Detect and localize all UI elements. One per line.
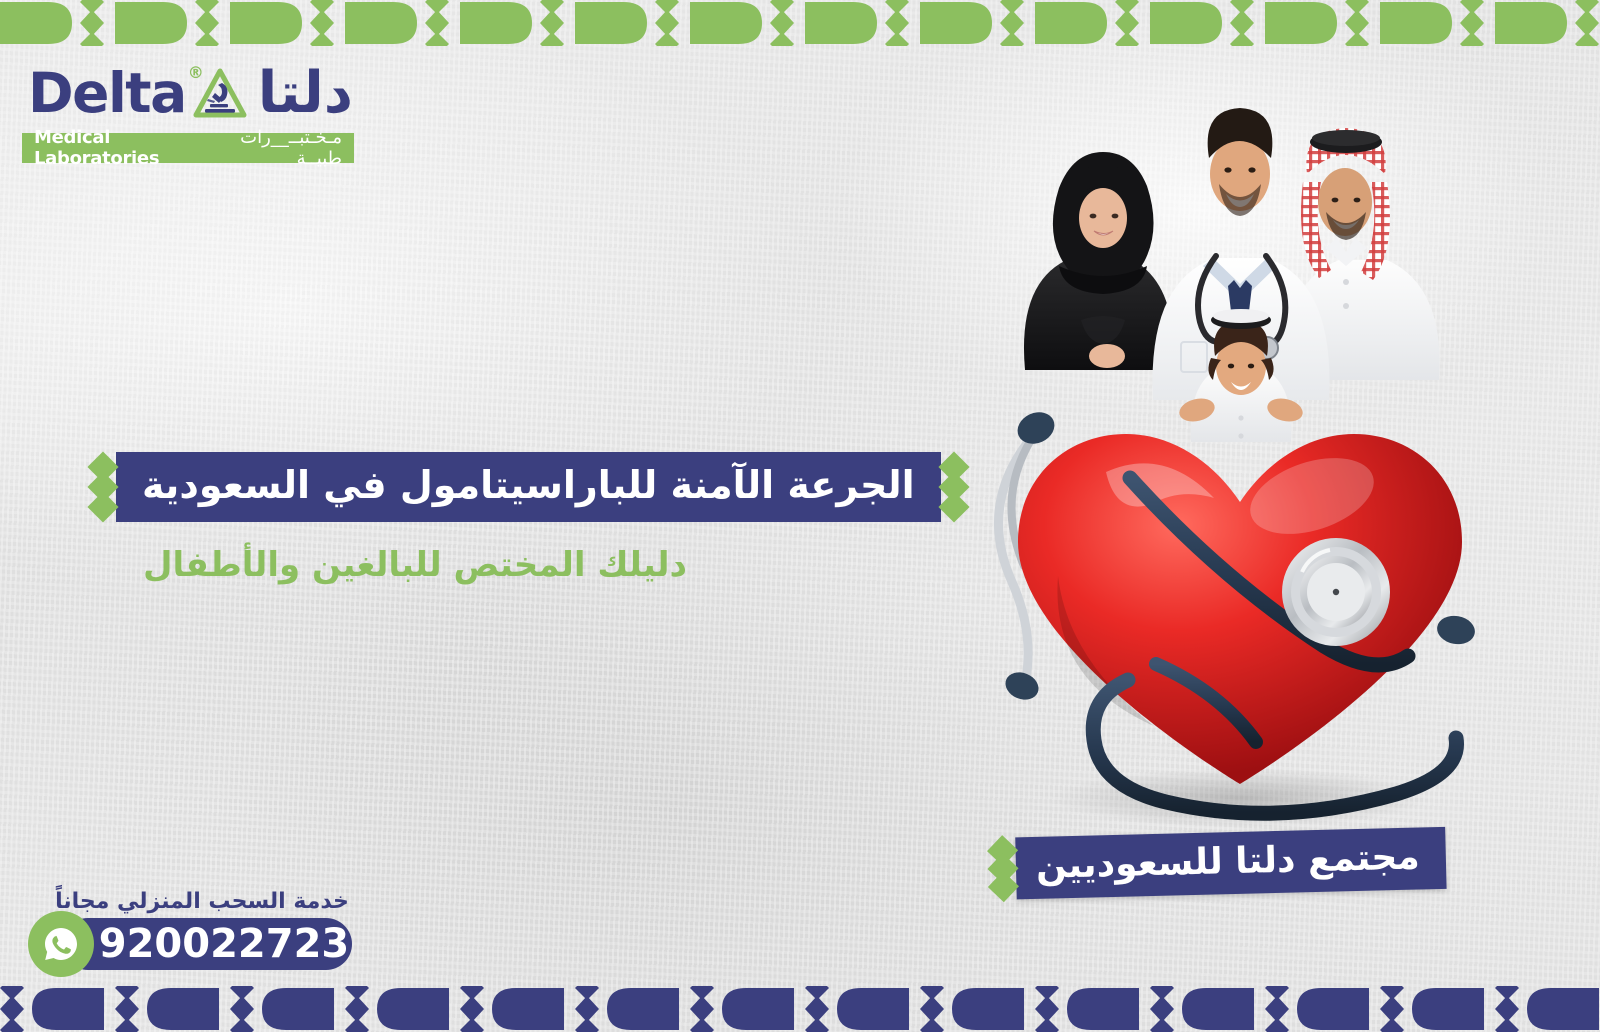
badge-label: مجتمع دلتا للسعوديين <box>1035 836 1420 886</box>
headline-banner: الجرعة الآمنة للباراسيتامول في السعودية <box>90 452 967 522</box>
phone-number-button[interactable]: 920022723 <box>62 918 352 970</box>
logo-latin-name: Delta <box>28 66 186 121</box>
headline-title: الجرعة الآمنة للباراسيتامول في السعودية <box>142 464 915 508</box>
contact-caption: خدمة السحب المنزلي مجاناً <box>52 889 352 914</box>
top-border-pattern <box>0 0 1600 46</box>
headline-bar: الجرعة الآمنة للباراسيتامول في السعودية <box>116 452 941 522</box>
logo-arabic-name: دلتا <box>258 65 353 122</box>
heart-stethoscope-graphic <box>940 380 1530 850</box>
badge-left-diamonds <box>989 837 1017 900</box>
logo-wordmark-row: Delta ® دلتا <box>22 57 362 129</box>
registered-trademark-icon: ® <box>188 63 204 82</box>
diamond-shape <box>938 491 969 522</box>
headline-right-diamonds <box>941 452 967 522</box>
contact-block[interactable]: خدمة السحب المنزلي مجاناً 920022723 <box>24 889 364 970</box>
logo-tagline-en: Medical Laboratories <box>34 127 196 169</box>
diamond-shape <box>87 491 118 522</box>
bottom-border-pattern <box>0 986 1600 1032</box>
logo-tagline-band: Medical Laboratories مـخـتبــ__رات طبيــ… <box>22 133 354 163</box>
woman-figure <box>1024 152 1174 370</box>
phone-number: 920022723 <box>99 924 350 964</box>
diamond-shape <box>988 871 1019 902</box>
headline-subtitle: دليلك المختص للبالغين والأطفال <box>90 545 740 585</box>
logo-tagline-ar: مـخـتبــ__رات طبيــة <box>222 127 342 169</box>
microscope-triangle-icon: ® <box>192 65 248 121</box>
community-badge: مجتمع دلتا للسعوديين <box>989 827 1446 900</box>
headline-left-diamonds <box>90 452 116 522</box>
badge-bar: مجتمع دلتا للسعوديين <box>1015 827 1446 899</box>
brand-logo[interactable]: Delta ® دلتا Medical Laboratories <box>22 57 362 163</box>
promotional-banner: Delta ® دلتا Medical Laboratories <box>0 0 1600 1032</box>
whatsapp-icon[interactable] <box>28 911 94 977</box>
